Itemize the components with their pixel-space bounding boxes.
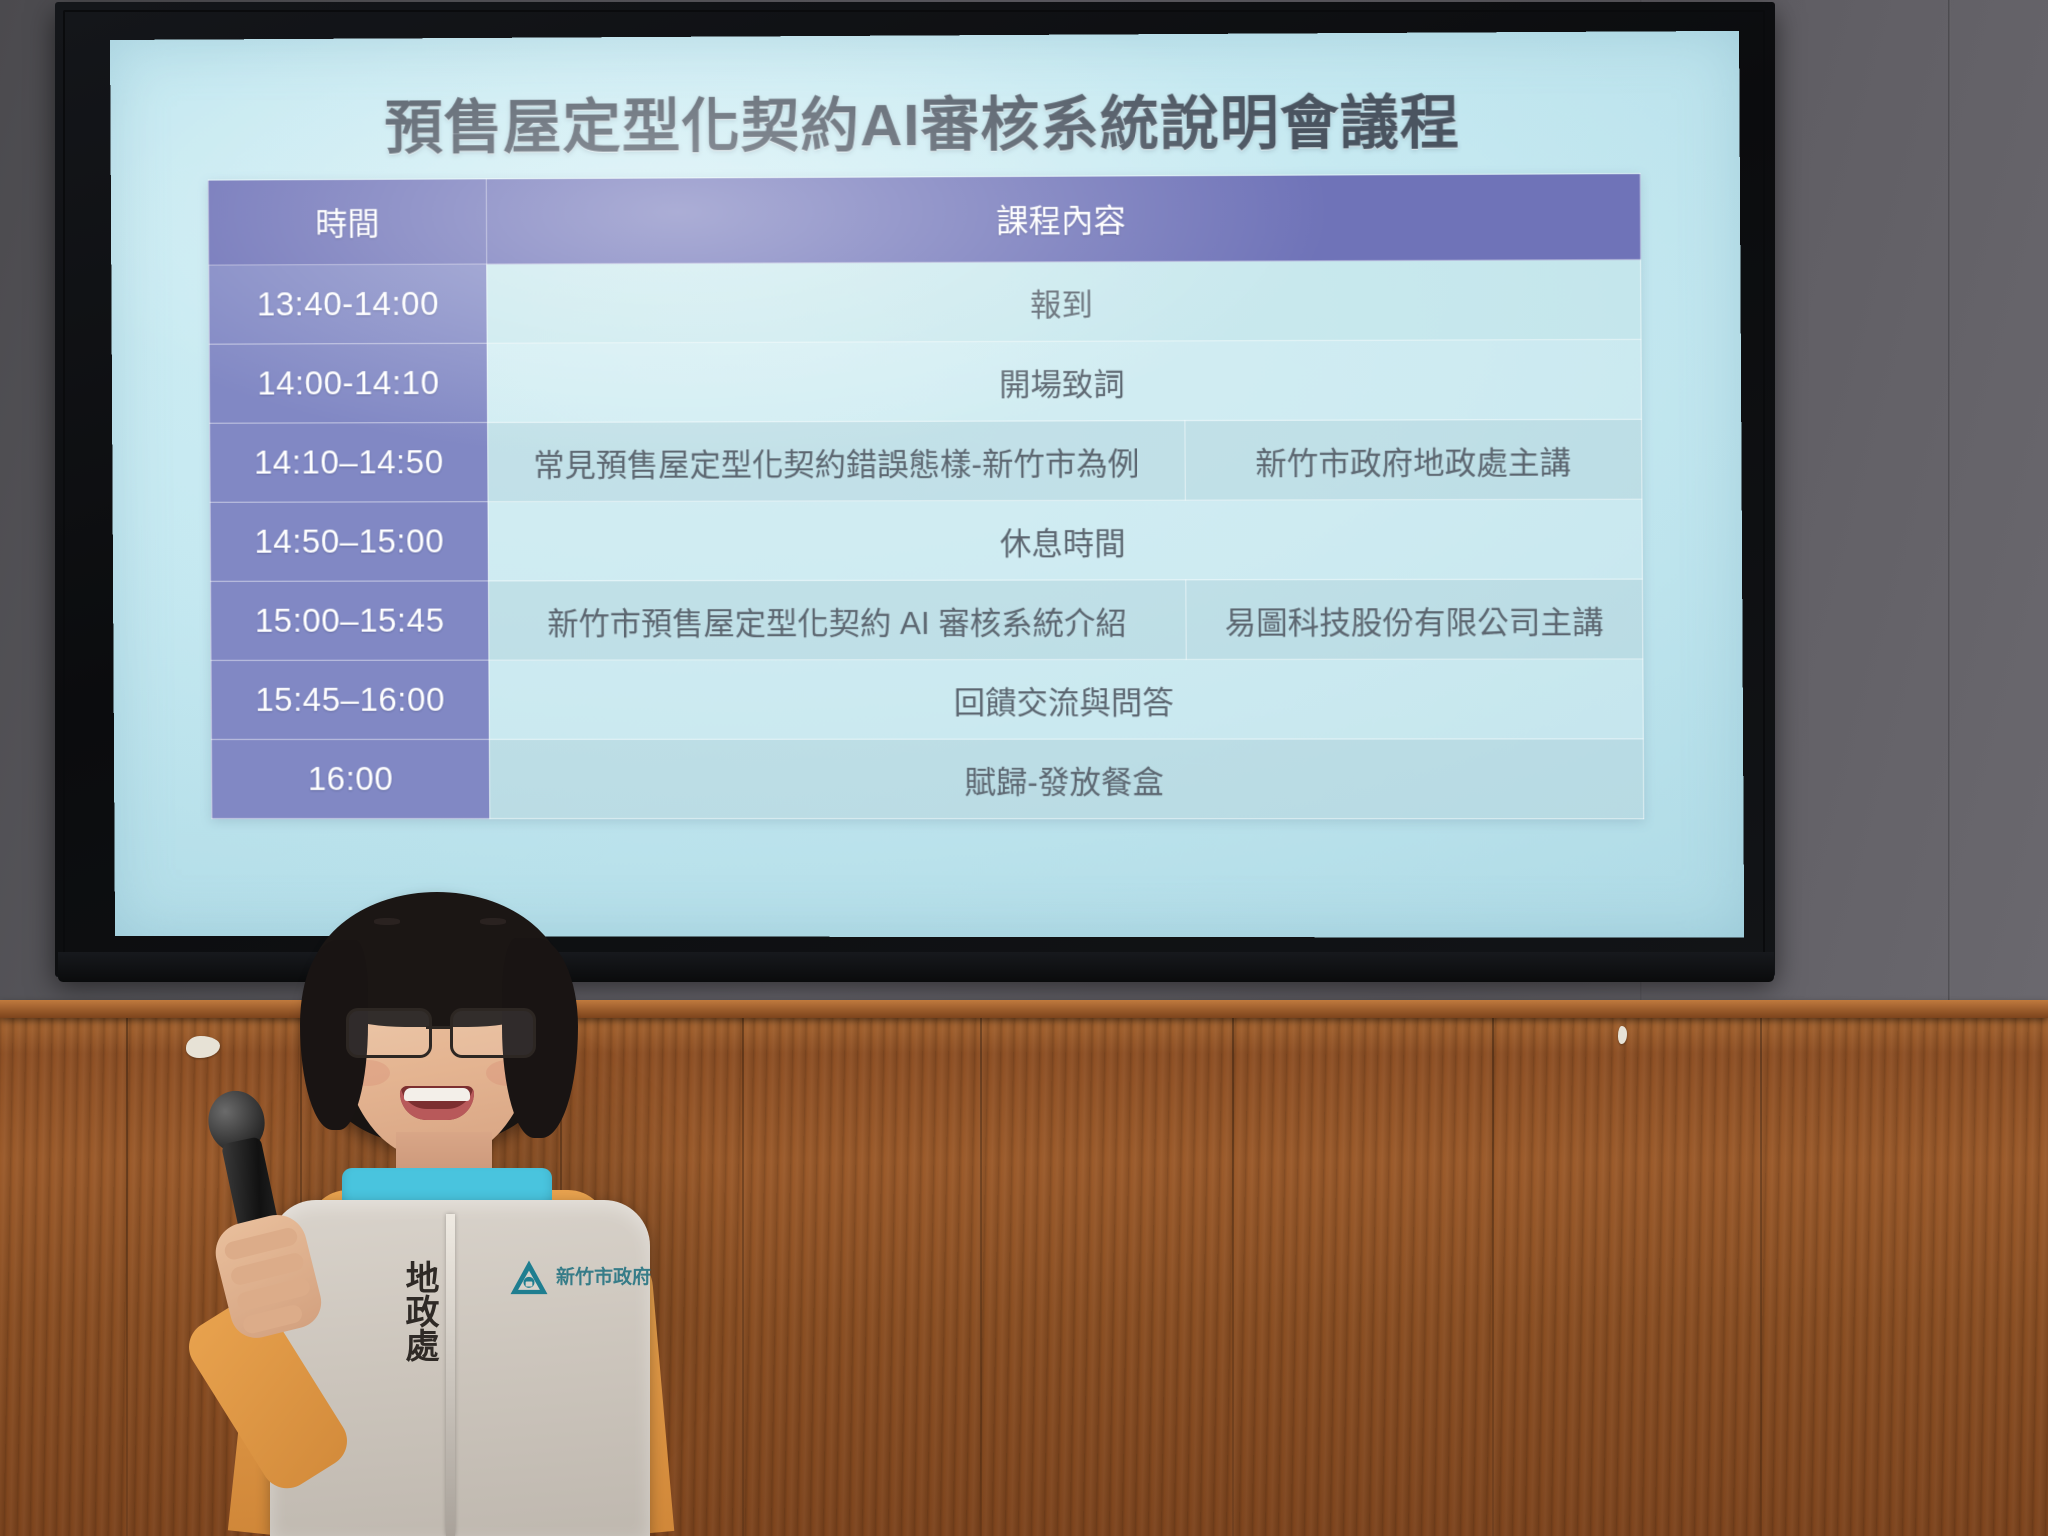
vest-logo-text: 新竹市政府 [556,1262,651,1289]
presenter: 地政處 新竹市政府 [150,900,770,1536]
cell-speaker: 易圖科技股份有限公司主講 [1186,579,1643,659]
cell-topic: 新竹市預售屋定型化契約 AI 審核系統介紹 [488,580,1186,660]
table-row: 14:50–15:00 休息時間 [210,499,1642,581]
city-government-logo-icon [508,1258,550,1300]
cell-time: 14:00-14:10 [209,343,487,423]
cell-time: 13:40-14:00 [209,264,487,344]
column-header-content: 課程內容 [486,174,1640,264]
table-row: 15:45–16:00 回饋交流與問答 [211,659,1643,739]
cell-speaker: 新竹市政府地政處主講 [1185,419,1642,500]
table-row: 15:00–15:45 新竹市預售屋定型化契約 AI 審核系統介紹 易圖科技股份… [211,579,1643,660]
agenda-table-body: 13:40-14:00 報到 14:00-14:10 開場致詞 14:10–14… [209,260,1644,819]
teeth [404,1088,470,1101]
slide-title: 預售屋定型化契約AI審核系統說明會議程 [150,74,1699,166]
table-row: 14:10–14:50 常見預售屋定型化契約錯誤態樣-新竹市為例 新竹市政府地政… [210,419,1642,502]
wood-plank-seam [980,1018,982,1536]
agenda-table: 時間 課程內容 13:40-14:00 報到 14:00-14:10 開場致詞 … [208,173,1644,819]
wood-plank-seam [1760,1018,1762,1536]
vest-department-text: 地政處 [390,1260,436,1362]
conference-room-scene: 預售屋定型化契約AI審核系統說明會議程 時間 課程內容 13:40-14:00 … [0,0,2048,1536]
cell-time: 14:50–15:00 [210,502,488,582]
cell-topic: 休息時間 [488,499,1642,581]
cell-topic: 開場致詞 [487,339,1641,422]
column-header-time: 時間 [208,179,486,265]
eye [480,918,506,925]
cell-topic: 報到 [487,260,1641,344]
agenda-table-header: 時間 課程內容 [208,174,1640,266]
slide: 預售屋定型化契約AI審核系統說明會議程 時間 課程內容 13:40-14:00 … [110,31,1744,938]
vest: 地政處 新竹市政府 [270,1200,650,1536]
cell-topic: 回饋交流與問答 [489,659,1643,739]
cell-time: 16:00 [211,739,489,818]
cell-topic: 常見預售屋定型化契約錯誤態樣-新竹市為例 [488,421,1186,502]
eye [374,918,400,925]
cell-time: 14:10–14:50 [210,422,488,502]
wood-plank-seam [126,1018,128,1536]
table-row: 14:00-14:10 開場致詞 [209,339,1641,423]
table-header-row: 時間 課程內容 [208,174,1640,266]
cell-topic: 賦歸-發放餐盒 [489,739,1643,819]
table-row: 13:40-14:00 報到 [209,260,1641,345]
cell-time: 15:00–15:45 [211,581,489,661]
table-row: 16:00 賦歸-發放餐盒 [211,739,1643,819]
wall-seam [1948,0,1951,1010]
wood-plank-seam [1232,1018,1234,1536]
glasses-icon [346,1008,536,1054]
cell-time: 15:45–16:00 [211,660,489,739]
wood-plank-seam [1492,1018,1494,1536]
projection-screen: 預售屋定型化契約AI審核系統說明會議程 時間 課程內容 13:40-14:00 … [110,31,1744,938]
